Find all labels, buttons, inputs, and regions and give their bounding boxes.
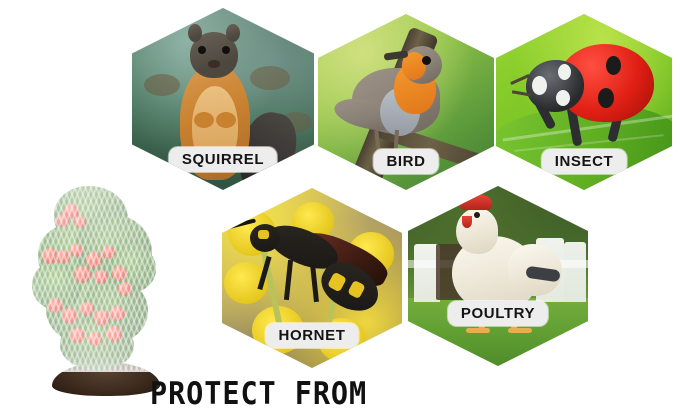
hex-tile-poultry[interactable]: POULTRY [408, 186, 588, 366]
page-title: PROTECT FROM [150, 379, 367, 410]
protective-netting [24, 176, 174, 372]
hex-label-hornet: HORNET [266, 323, 359, 348]
hex-label-insect: INSECT [542, 149, 627, 174]
hex-tile-bird[interactable]: BIRD [318, 14, 494, 190]
netted-tomato-plant-image [8, 170, 190, 400]
poultry-photo [408, 186, 588, 366]
hex-label-squirrel: SQUIRREL [169, 147, 277, 172]
hex-tile-hornet[interactable]: HORNET [222, 188, 402, 368]
hex-tile-insect[interactable]: INSECT [496, 14, 672, 190]
hex-label-poultry: POULTRY [448, 301, 548, 326]
infographic-canvas: SQUIRREL BIRD [0, 0, 680, 420]
hex-label-bird: BIRD [373, 149, 438, 174]
hex-tile-squirrel[interactable]: SQUIRREL [132, 8, 314, 190]
